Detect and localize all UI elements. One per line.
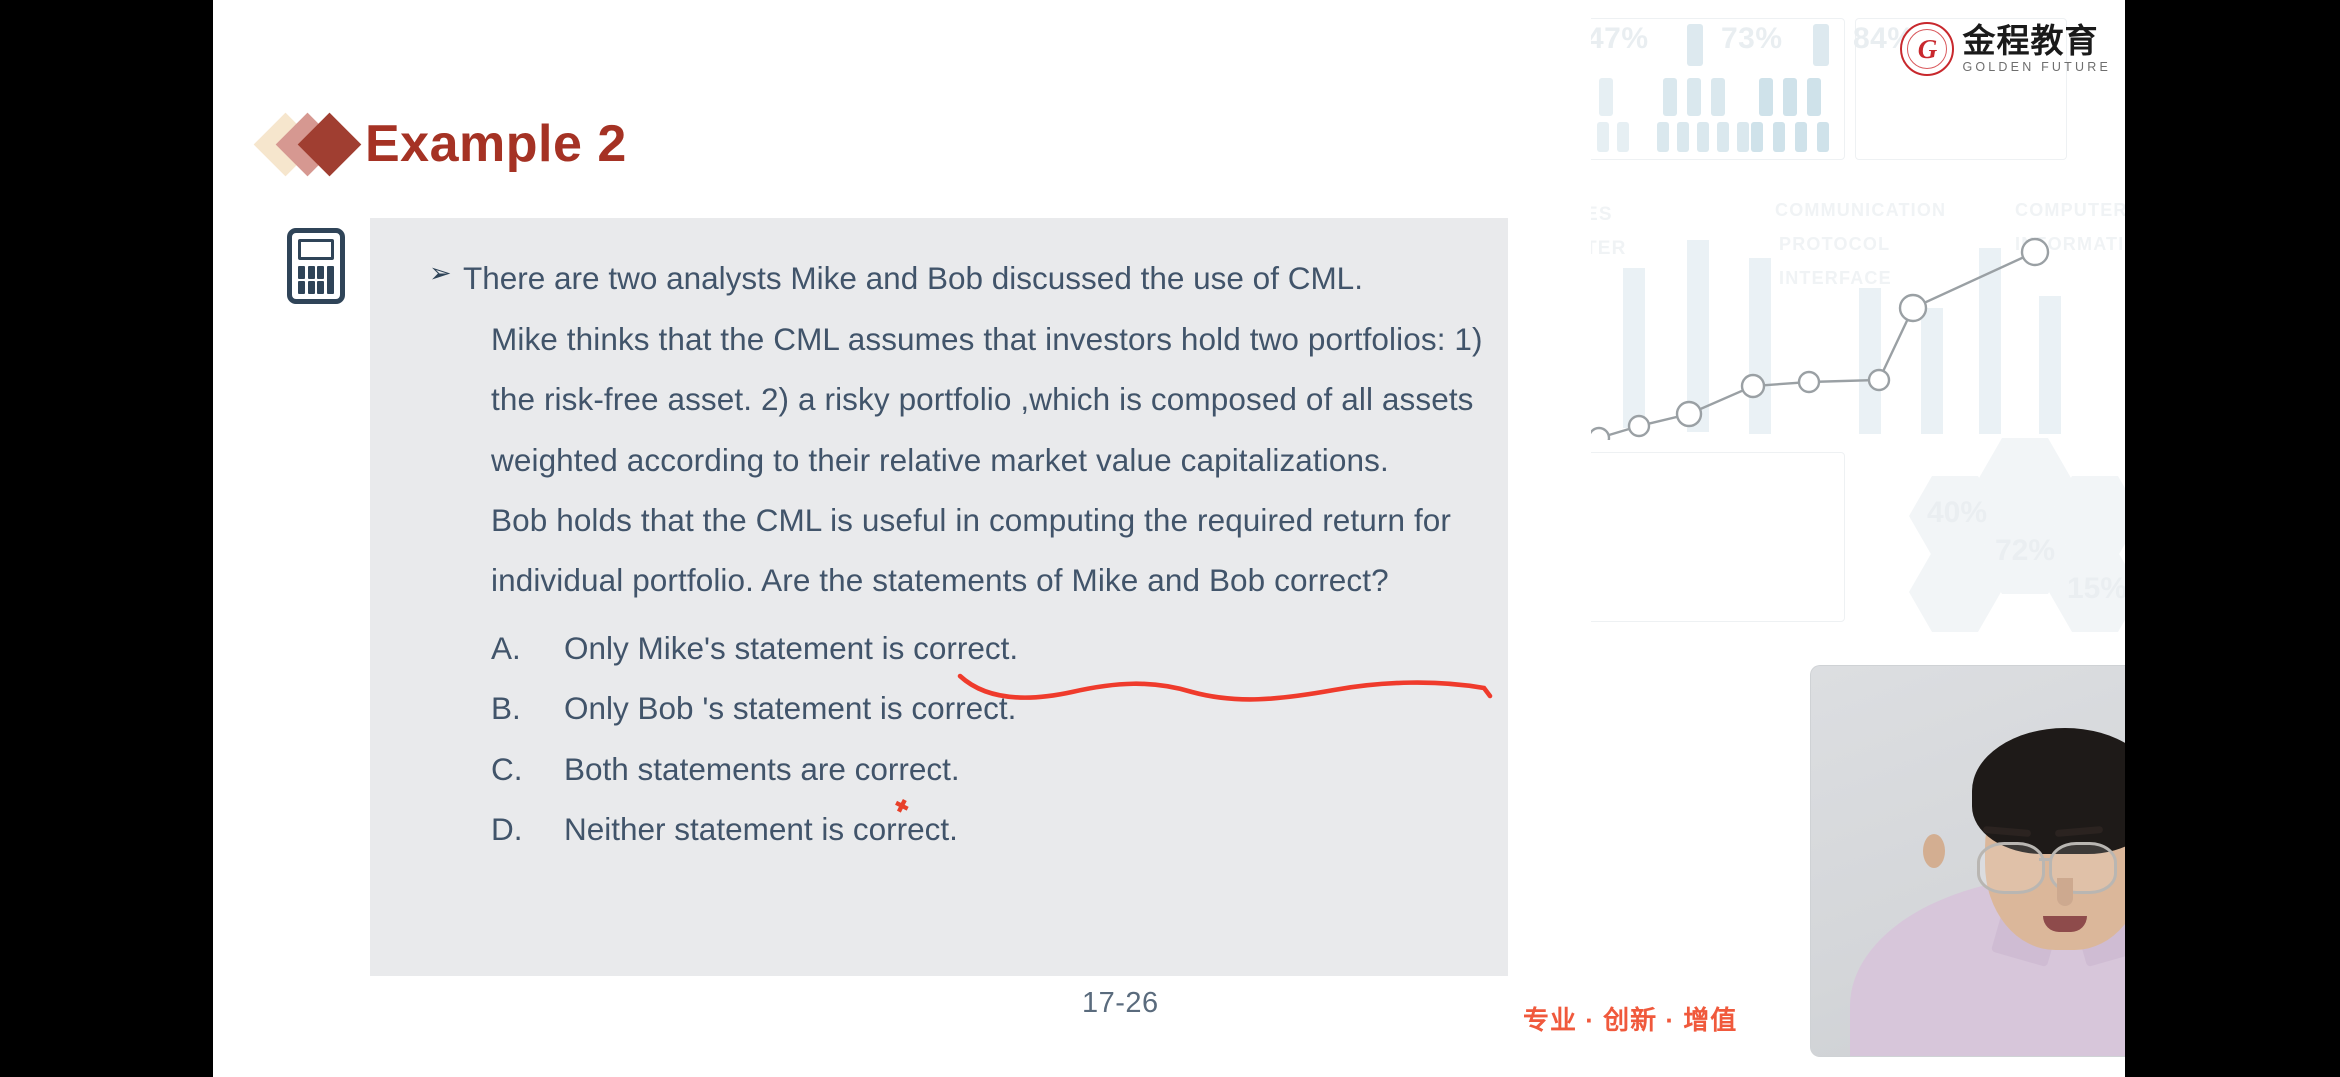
red-underline-annotation xyxy=(956,670,1496,704)
option-b[interactable]: B.Only Bob 's statement is correct. xyxy=(491,690,1016,727)
bg-person-icon xyxy=(1663,78,1677,116)
question-bullet-row: ➢ There are two analysts Mike and Bob di… xyxy=(429,260,1363,297)
bg-person-icon xyxy=(1599,78,1613,116)
option-b-label: B. xyxy=(491,690,564,727)
diamond-bullet-icon xyxy=(263,112,359,176)
calculator-key-tall xyxy=(327,266,334,294)
body-line-2: Mike thinks that the CML assumes that in… xyxy=(491,321,1483,358)
option-c-label: C. xyxy=(491,751,564,788)
question-panel: ➢ There are two analysts Mike and Bob di… xyxy=(370,218,1508,976)
body-line-6: individual portfolio. Are the statements… xyxy=(491,562,1389,599)
bg-person-icon xyxy=(1773,122,1785,152)
calculator-key xyxy=(317,266,324,279)
bg-person-icon xyxy=(1597,122,1609,152)
bg-card-bottom xyxy=(1591,452,1845,622)
bg-line-chart xyxy=(1591,190,2125,440)
bg-hex-label: 40% xyxy=(1927,496,1987,530)
calculator-key xyxy=(308,266,315,279)
presenter-ear-left xyxy=(1923,834,1945,868)
calculator-key xyxy=(317,281,324,294)
bg-person-icon xyxy=(1813,24,1829,66)
logo-name-cn: 金程教育 xyxy=(1962,24,2111,57)
body-line-4: weighted according to their relative mar… xyxy=(491,442,1389,479)
bg-person-icon xyxy=(1783,78,1797,116)
calculator-icon xyxy=(287,228,345,304)
calculator-key xyxy=(308,281,315,294)
option-d[interactable]: D.Neither statement is correct. xyxy=(491,811,958,848)
bg-hex-label: 72% xyxy=(1995,534,2055,568)
bg-person-icon xyxy=(1677,122,1689,152)
bg-person-icon xyxy=(1617,122,1629,152)
bg-person-icon xyxy=(1795,122,1807,152)
presenter-glasses-left xyxy=(1977,842,2045,894)
body-line-5: Bob holds that the CML is useful in comp… xyxy=(491,502,1451,539)
presenter-glasses-bridge xyxy=(2039,858,2051,861)
body-line-3: the risk-free asset. 2) a risky portfoli… xyxy=(491,381,1474,418)
bg-person-icon xyxy=(1807,78,1821,116)
option-c[interactable]: C.Both statements are correct. xyxy=(491,751,960,788)
calculator-screen xyxy=(298,239,334,260)
bg-person-icon xyxy=(1751,122,1763,152)
presenter-nose xyxy=(2057,878,2073,906)
slide-canvas: 47% 73% 84% ES TER xyxy=(213,0,2125,1077)
bg-person-icon xyxy=(1687,24,1703,66)
option-b-text: Only Bob 's statement is correct. xyxy=(564,690,1016,726)
brand-logo: G 金程教育 GOLDEN FUTURE xyxy=(1900,22,2111,76)
page-number: 17-26 xyxy=(1082,987,1159,1020)
arrow-bullet-icon: ➢ xyxy=(429,260,463,297)
option-a-text: Only Mike's statement is correct. xyxy=(564,630,1018,666)
background-infographic: 47% 73% 84% ES TER xyxy=(1591,0,2125,660)
bg-person-icon xyxy=(1687,78,1701,116)
page-title: Example 2 xyxy=(263,112,627,176)
calculator-keys xyxy=(298,266,334,294)
bg-percent-2: 73% xyxy=(1721,22,1783,56)
logo-name-en: GOLDEN FUTURE xyxy=(1962,60,2111,74)
option-d-label: D. xyxy=(491,811,564,848)
bg-hex-label: 15% xyxy=(2067,572,2125,606)
bg-person-icon xyxy=(1697,122,1709,152)
seal-letter: G xyxy=(1902,24,1952,74)
title-text: Example 2 xyxy=(365,114,627,174)
bg-person-icon xyxy=(1759,78,1773,116)
bg-person-icon xyxy=(1711,78,1725,116)
bg-person-icon xyxy=(1657,122,1669,152)
bg-person-icon xyxy=(1737,122,1749,152)
seal-icon: G xyxy=(1900,22,1954,76)
calculator-key xyxy=(298,281,305,294)
option-a-label: A. xyxy=(491,630,564,667)
option-d-text: Neither statement is correct. xyxy=(564,811,958,847)
bg-person-icon xyxy=(1817,122,1829,152)
calculator-key xyxy=(298,266,305,279)
option-a[interactable]: A.Only Mike's statement is correct. xyxy=(491,630,1018,667)
bg-percent-1: 47% xyxy=(1591,22,1649,56)
screen: 47% 73% 84% ES TER xyxy=(0,0,2340,1077)
bg-person-icon xyxy=(1717,122,1729,152)
webcam-video[interactable] xyxy=(1811,666,2125,1056)
brand-slogan: 专业 · 创新 · 增值 xyxy=(1523,1000,1737,1037)
option-c-text: Both statements are correct. xyxy=(564,751,960,787)
body-line-1: There are two analysts Mike and Bob disc… xyxy=(463,260,1363,297)
